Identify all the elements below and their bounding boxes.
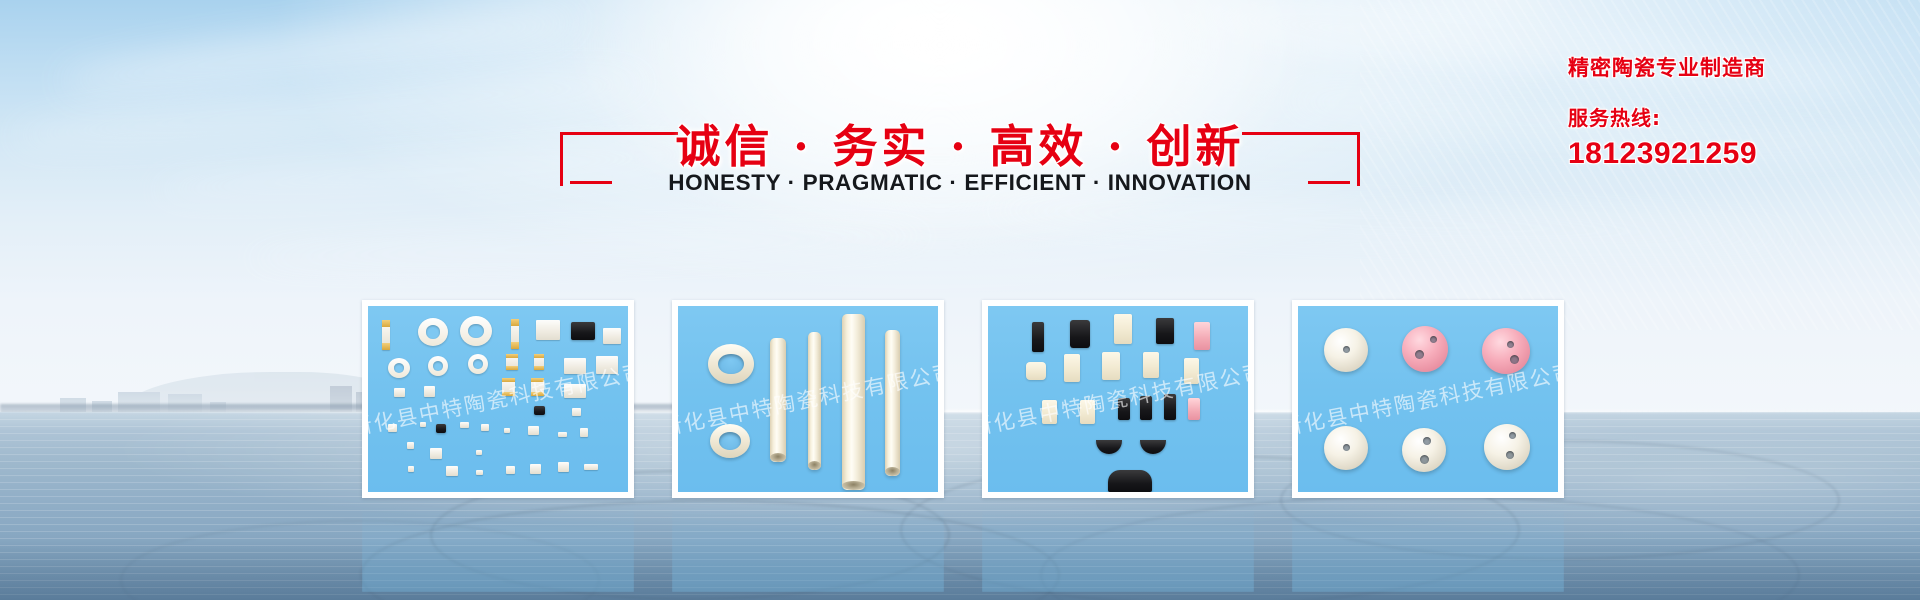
product-part [885, 330, 900, 476]
product-part [1482, 328, 1530, 374]
product-part [476, 450, 482, 455]
product-part [1114, 314, 1132, 344]
product-part [394, 388, 405, 397]
product-part [770, 338, 786, 462]
company-tagline: 精密陶瓷专业制造商 [1568, 52, 1908, 82]
product-part [407, 442, 414, 449]
product-panel-tubes[interactable]: 新化县中特陶瓷科技有限公司 [672, 300, 944, 498]
product-part [1042, 400, 1057, 424]
slogan-chinese: 诚信 · 务实 · 高效 · 创新 [650, 110, 1270, 175]
product-part [506, 466, 515, 474]
product-part [481, 424, 489, 431]
product-part [420, 422, 426, 427]
product-part [1140, 440, 1166, 454]
product-part [572, 408, 581, 416]
product-part [558, 462, 569, 472]
slogan-english: HONESTY · PRAGMATIC · EFFICIENT · INNOVA… [590, 170, 1330, 196]
product-part [558, 432, 567, 437]
product-part [580, 428, 588, 437]
product-part [1324, 328, 1368, 372]
product-part [1108, 470, 1152, 492]
product-part [430, 448, 442, 459]
product-part [1080, 400, 1095, 424]
product-part [428, 356, 448, 376]
product-part [1324, 426, 1368, 470]
water-shadow [0, 540, 1920, 600]
product-part [502, 378, 515, 396]
product-part [1402, 326, 1448, 372]
product-part [1194, 322, 1210, 350]
product-part [708, 344, 754, 384]
product-part [388, 424, 397, 432]
product-part [1402, 428, 1446, 472]
product-part [1032, 322, 1044, 352]
product-part [408, 466, 414, 472]
product-part [1064, 354, 1080, 382]
product-part [1140, 396, 1152, 420]
product-part [842, 314, 865, 490]
product-part [504, 428, 510, 433]
product-part [1070, 320, 1090, 348]
product-part [1118, 398, 1130, 420]
product-part [710, 424, 750, 458]
bracket-right-vertical [1357, 132, 1360, 186]
panel-image-area: 新化县中特陶瓷科技有限公司 [678, 306, 938, 492]
product-part [382, 320, 390, 350]
product-part [468, 354, 488, 374]
hotline-number[interactable]: 18123921259 [1568, 137, 1908, 171]
panel-image-area: 新化县中特陶瓷科技有限公司 [988, 306, 1248, 492]
product-panel-discs[interactable]: 新化县中特陶瓷科技有限公司 [1292, 300, 1564, 498]
product-part [506, 354, 518, 370]
product-part [534, 406, 545, 415]
product-part [1026, 362, 1046, 380]
product-panels: 新化县中特陶瓷科技有限公司 新化县中特陶瓷科技有限公司 [362, 300, 1562, 500]
product-part [531, 378, 544, 396]
slogan-block: 诚信 · 务实 · 高效 · 创新 HONESTY · PRAGMATIC · … [560, 108, 1360, 208]
product-part [534, 354, 544, 370]
product-part [1184, 358, 1199, 384]
product-part [1102, 352, 1120, 380]
product-part [424, 386, 435, 397]
product-part [528, 426, 539, 435]
product-part [564, 384, 586, 398]
product-part [1164, 394, 1176, 420]
product-part [1096, 440, 1122, 454]
product-part [571, 322, 595, 340]
product-part [511, 319, 519, 349]
bracket-left-vertical [560, 132, 563, 186]
product-part [1188, 398, 1200, 420]
product-part [1156, 318, 1174, 344]
product-part [536, 320, 560, 340]
product-part [460, 422, 469, 428]
product-part [584, 464, 598, 470]
product-part [460, 316, 492, 346]
product-part [476, 470, 483, 475]
product-part [564, 358, 586, 374]
panel-image-area: 新化县中特陶瓷科技有限公司 [1298, 306, 1558, 492]
product-part [1484, 424, 1530, 470]
product-part [808, 332, 821, 470]
hero-banner: 诚信 · 务实 · 高效 · 创新 HONESTY · PRAGMATIC · … [0, 0, 1920, 600]
product-part [1143, 352, 1159, 378]
panel-image-area: 新化县中特陶瓷科技有限公司 [368, 306, 628, 492]
product-part [388, 358, 410, 378]
product-panel-structural-parts[interactable]: 新化县中特陶瓷科技有限公司 [982, 300, 1254, 498]
product-part [418, 318, 448, 346]
product-part [436, 424, 446, 433]
product-part [596, 356, 618, 374]
product-part [530, 464, 541, 474]
product-part [446, 466, 458, 476]
hotline-label: 服务热线: [1568, 102, 1908, 131]
product-part [603, 328, 621, 344]
product-panel-smd-chips[interactable]: 新化县中特陶瓷科技有限公司 [362, 300, 634, 498]
contact-block: 精密陶瓷专业制造商 服务热线: 18123921259 [1568, 52, 1908, 171]
